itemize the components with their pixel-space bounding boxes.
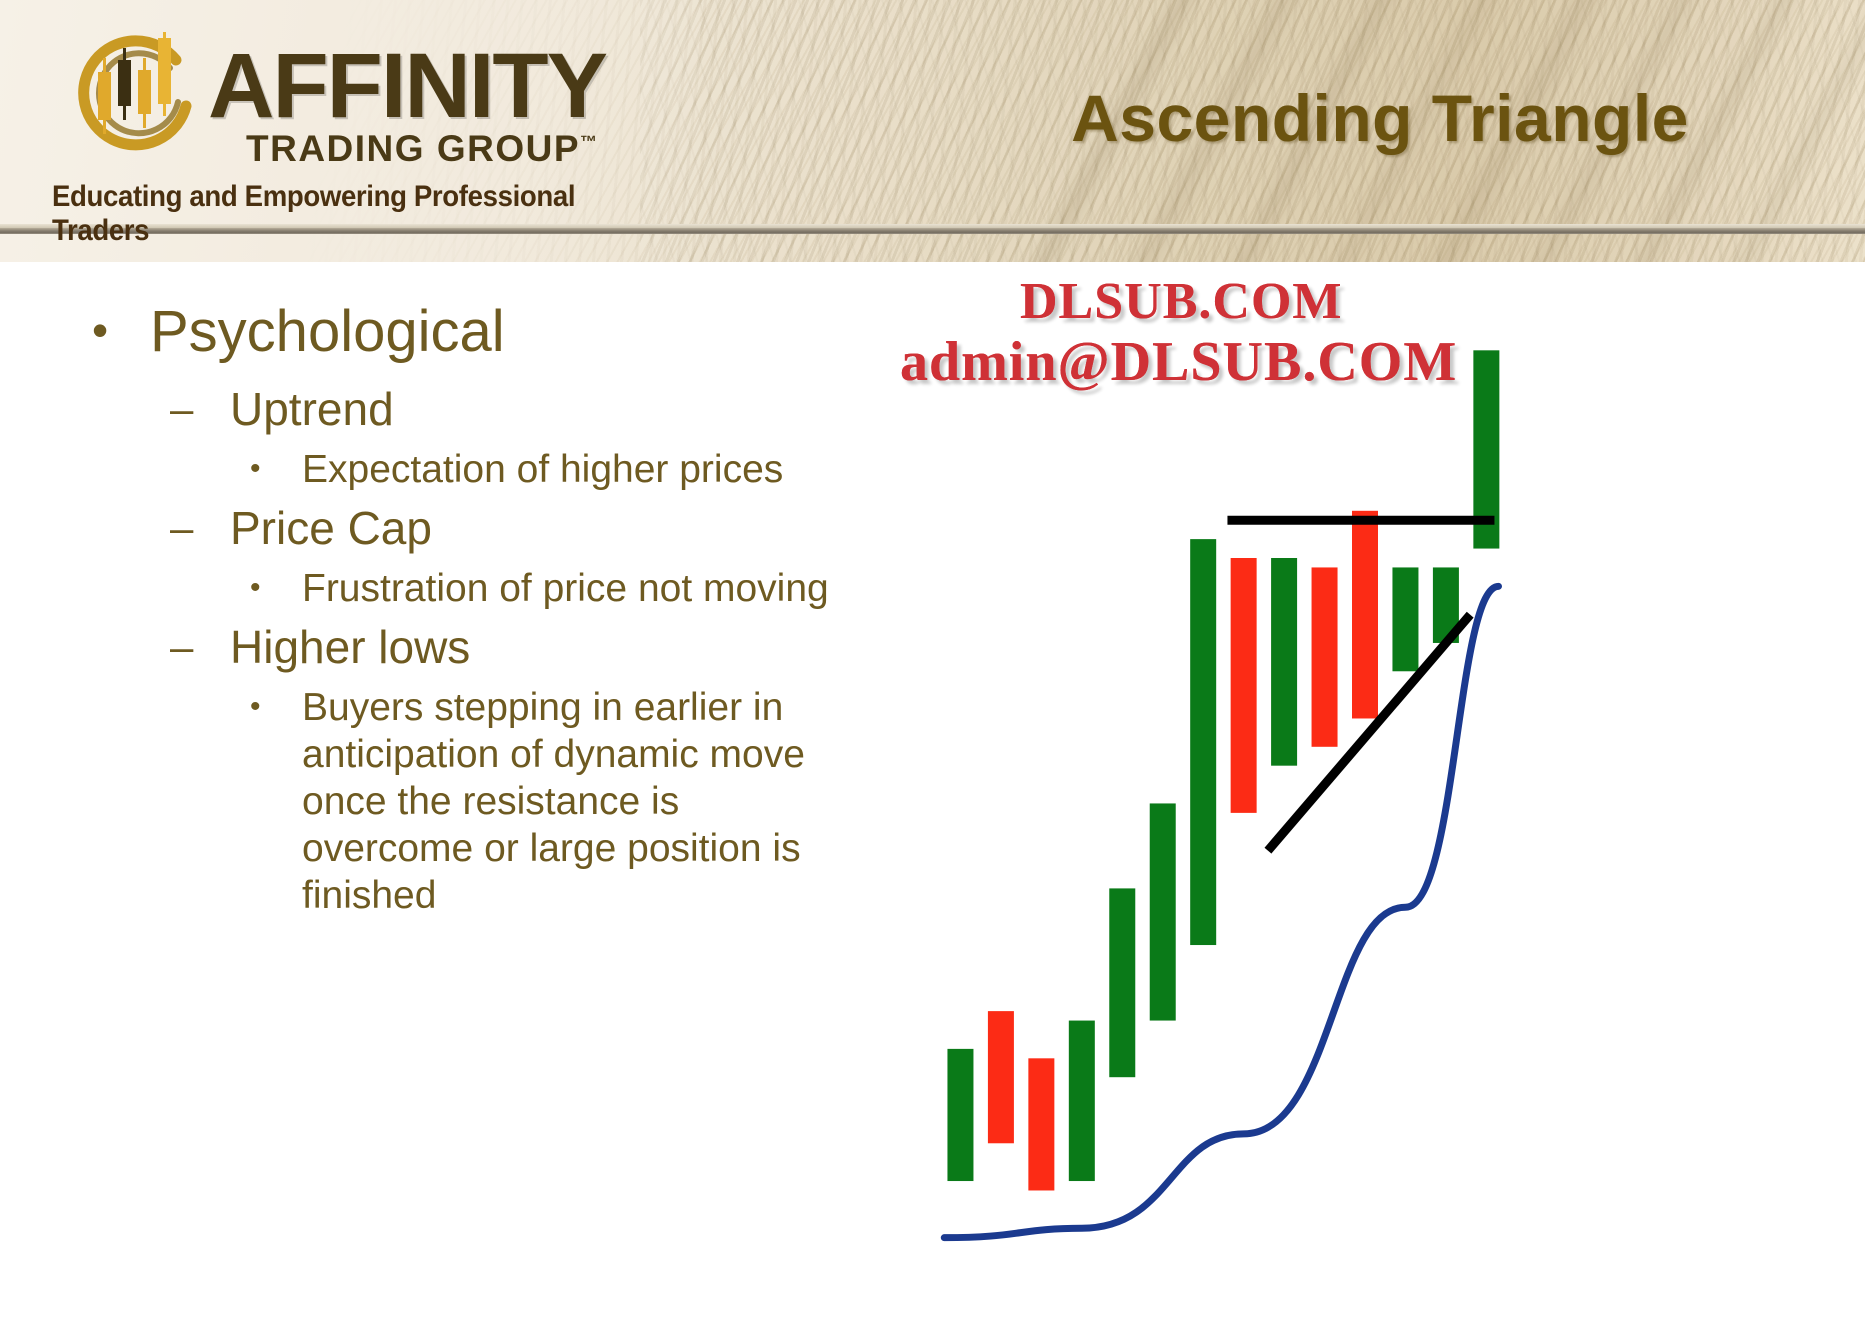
candle-down xyxy=(1352,511,1378,719)
page-title: Ascending Triangle xyxy=(960,80,1800,156)
candle-down xyxy=(1312,567,1338,746)
logo-subtitle-text: TRADING GROUP xyxy=(246,128,580,169)
bullet-text: Uptrend xyxy=(230,383,394,435)
bullet-level2: – Price Cap xyxy=(70,501,860,555)
candlestick-circle-logo-icon xyxy=(58,32,208,162)
bullet-dot-icon: • xyxy=(250,683,261,730)
bullet-text: Buyers stepping in earlier in anticipati… xyxy=(302,686,805,917)
bullet-text: Frustration of price not moving xyxy=(302,567,829,610)
ascending-triangle-chart xyxy=(860,262,1865,1326)
chart-canvas xyxy=(860,262,1865,1326)
bullet-level3: • Buyers stepping in earlier in anticipa… xyxy=(70,684,860,919)
bullet-level3: • Frustration of price not moving xyxy=(70,565,860,612)
candle-down xyxy=(988,1011,1014,1143)
bullet-dot-icon: • xyxy=(250,564,261,611)
candle-up xyxy=(1150,803,1176,1020)
logo-subtitle: TRADING GROUP™ xyxy=(246,128,599,170)
candle-up xyxy=(1392,567,1418,671)
bullet-text: Price Cap xyxy=(230,502,432,554)
header-banner: AFFINITY TRADING GROUP™ Educating and Em… xyxy=(0,0,1865,262)
bullet-dash-icon: – xyxy=(170,620,193,674)
candle-down xyxy=(1028,1058,1054,1190)
bullet-dot-icon: • xyxy=(250,445,261,492)
candle-up xyxy=(1271,558,1297,766)
bullet-level2: – Uptrend xyxy=(70,382,860,436)
logo-title: AFFINITY xyxy=(208,40,606,132)
bullet-text: Expectation of higher prices xyxy=(302,448,783,491)
bullet-dash-icon: – xyxy=(170,501,193,555)
bullet-dash-icon: – xyxy=(170,382,193,436)
candle-up xyxy=(1109,888,1135,1077)
bullet-dot-icon: • xyxy=(92,298,108,362)
bullet-list: • Psychological – Uptrend • Expectation … xyxy=(70,300,860,927)
candle-up xyxy=(947,1049,973,1181)
candle-up xyxy=(1190,539,1216,945)
bullet-level3: • Expectation of higher prices xyxy=(70,446,860,493)
bullet-text: Psychological xyxy=(150,299,505,364)
bullet-level2: – Higher lows xyxy=(70,620,860,674)
trademark-icon: ™ xyxy=(580,133,599,152)
candle-down xyxy=(1231,558,1257,813)
slide: AFFINITY TRADING GROUP™ Educating and Em… xyxy=(0,0,1865,1326)
bullet-level1: • Psychological xyxy=(70,300,860,364)
watermark-line1: DLSUB.COM xyxy=(1020,272,1342,331)
candle-up xyxy=(1069,1021,1095,1181)
logo-tagline: Educating and Empowering Professional Tr… xyxy=(52,180,602,248)
company-logo: AFFINITY TRADING GROUP™ Educating and Em… xyxy=(50,22,650,222)
bullet-text: Higher lows xyxy=(230,621,470,673)
watermark-line2: admin@DLSUB.COM xyxy=(900,330,1457,394)
